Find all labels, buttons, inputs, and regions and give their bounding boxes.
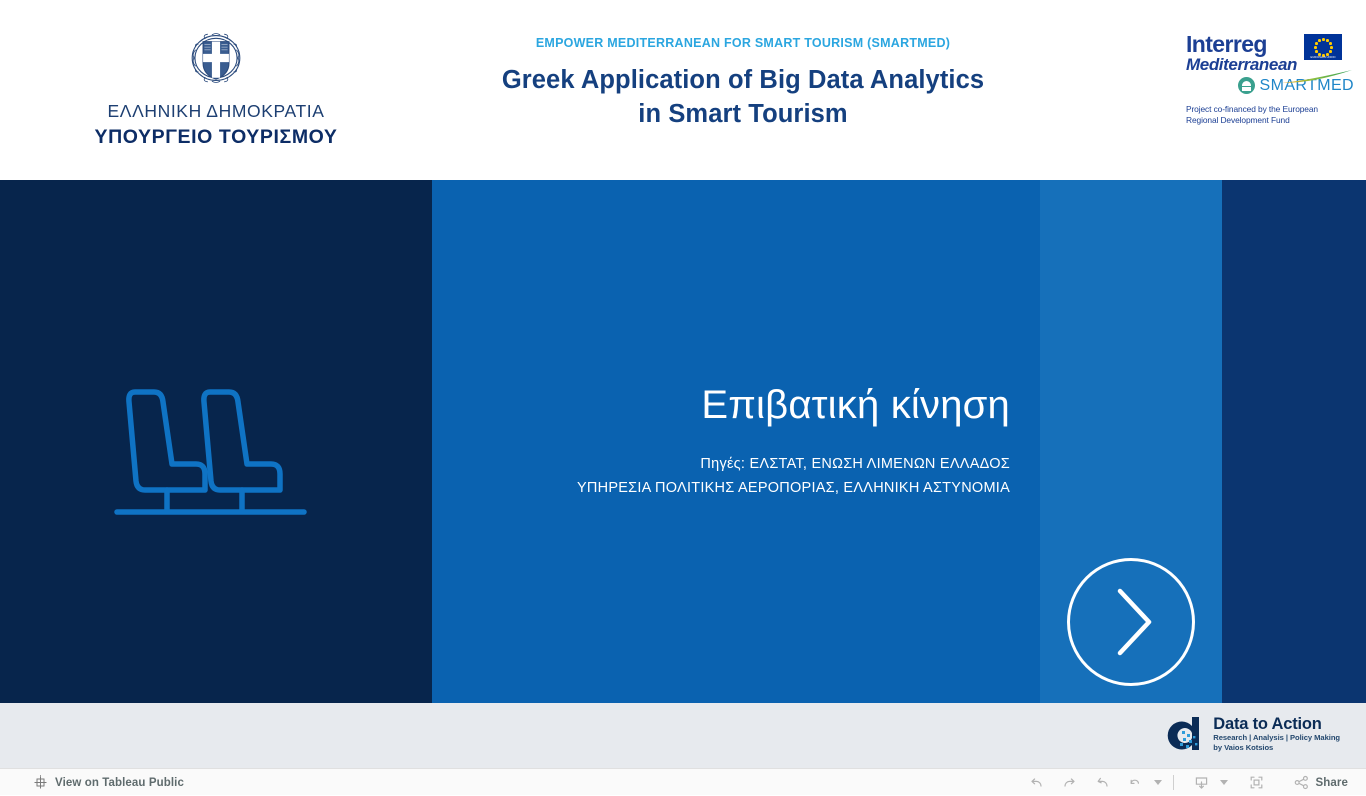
- revert-icon: [1094, 774, 1111, 791]
- smartmed-badge-icon: [1238, 77, 1255, 94]
- revert-button[interactable]: [1086, 769, 1119, 796]
- gov-logo-line1: ΕΛΛΗΝΙΚΗ ΔΗΜΟΚΡΑΤΙΑ: [0, 100, 432, 124]
- tableau-logo-icon: [33, 775, 48, 790]
- redo-button[interactable]: [1053, 769, 1086, 796]
- panel-right-navy: [1222, 180, 1366, 703]
- title-block: EMPOWER MEDITERRANEAN FOR SMART TOURISM …: [433, 36, 1053, 132]
- page-title-line2: in Smart Tourism: [433, 97, 1053, 131]
- download-button[interactable]: [1185, 769, 1218, 796]
- gov-logo-line2: ΥΠΟΥΡΓΕΙΟ ΤΟΥΡΙΣΜΟΥ: [0, 124, 432, 150]
- share-icon: [1293, 774, 1310, 791]
- viz-center-content: Επιβατική κίνηση Πηγές: ΕΛΣΤΑΤ, ΕΝΩΣΗ ΛΙ…: [432, 180, 1040, 703]
- viz-stage: Επιβατική κίνηση Πηγές: ΕΛΣΤΑΤ, ΕΝΩΣΗ ΛΙ…: [0, 180, 1366, 703]
- viz-sources: Πηγές: ΕΛΣΤΑΤ, ΕΝΩΣΗ ΛΙΜΕΝΩΝ ΕΛΛΑΔΟΣ ΥΠΗ…: [577, 453, 1010, 499]
- passenger-seats-icon: [112, 378, 320, 523]
- data-to-action-mark-icon: [1162, 714, 1206, 754]
- download-dropdown-caret[interactable]: [1220, 780, 1228, 785]
- next-arrow-button[interactable]: [1067, 558, 1195, 686]
- interreg-swoosh-icon: [1280, 69, 1354, 85]
- eu-flag-caption: EUROPEAN UNION: [1304, 56, 1342, 59]
- redo-icon: [1061, 774, 1078, 791]
- toolbar-actions: Share: [1020, 769, 1356, 796]
- refresh-icon: [1127, 774, 1144, 791]
- dta-title: Data to Action: [1213, 715, 1340, 733]
- greek-coat-of-arms-icon: [182, 24, 250, 92]
- data-to-action-logo: Data to Action Research | Analysis | Pol…: [1162, 714, 1340, 754]
- government-logo: ΕΛΛΗΝΙΚΗ ΔΗΜΟΚΡΑΤΙΑ ΥΠΟΥΡΓΕΙΟ ΤΟΥΡΙΣΜΟΥ: [0, 24, 432, 150]
- page-title-line1: Greek Application of Big Data Analytics: [433, 63, 1053, 97]
- view-on-tableau-public-link[interactable]: View on Tableau Public: [33, 769, 184, 796]
- fullscreen-icon: [1248, 774, 1265, 791]
- project-eyebrow: EMPOWER MEDITERRANEAN FOR SMART TOURISM …: [433, 36, 1053, 50]
- view-on-tableau-public-label: View on Tableau Public: [55, 777, 184, 789]
- refresh-button[interactable]: [1119, 769, 1152, 796]
- dta-subtitle-1: Research | Analysis | Policy Making: [1213, 733, 1340, 743]
- viz-heading: Επιβατική κίνηση: [701, 383, 1010, 427]
- page-header: ΕΛΛΗΝΙΚΗ ΔΗΜΟΚΡΑΤΙΑ ΥΠΟΥΡΓΕΙΟ ΤΟΥΡΙΣΜΟΥ …: [0, 0, 1366, 180]
- footer-strip: Data to Action Research | Analysis | Pol…: [0, 703, 1366, 768]
- undo-icon: [1028, 774, 1045, 791]
- refresh-dropdown-caret[interactable]: [1154, 780, 1162, 785]
- viz-sources-line2: ΥΠΗΡΕΣΙΑ ΠΟΛΙΤΙΚΗΣ ΑΕΡΟΠΟΡΙΑΣ, ΕΛΛΗΝΙΚΗ …: [577, 477, 1010, 500]
- fullscreen-button[interactable]: [1240, 769, 1273, 796]
- dta-subtitle-2: by Vaios Kotsios: [1213, 743, 1340, 753]
- share-label: Share: [1316, 777, 1348, 789]
- interreg-wordmark: Interreg: [1186, 33, 1297, 56]
- share-button[interactable]: Share: [1285, 769, 1356, 796]
- download-icon: [1193, 774, 1210, 791]
- eu-flag-icon: EUROPEAN UNION: [1304, 34, 1342, 60]
- eu-funding-note: Project co-financed by the European Regi…: [1186, 104, 1354, 127]
- toolbar-separator: [1173, 775, 1174, 790]
- viz-sources-line1: Πηγές: ΕΛΣΤΑΤ, ΕΝΩΣΗ ΛΙΜΕΝΩΝ ΕΛΛΑΔΟΣ: [577, 453, 1010, 476]
- undo-button[interactable]: [1020, 769, 1053, 796]
- tableau-toolbar: View on Tableau Public: [0, 768, 1366, 795]
- eu-funding-line2: Regional Development Fund: [1186, 115, 1354, 126]
- chevron-right-icon: [1070, 561, 1192, 683]
- eu-funding-line1: Project co-financed by the European: [1186, 104, 1354, 115]
- interreg-logo: Interreg Mediterranean EUROPEAN UNION: [1186, 33, 1354, 126]
